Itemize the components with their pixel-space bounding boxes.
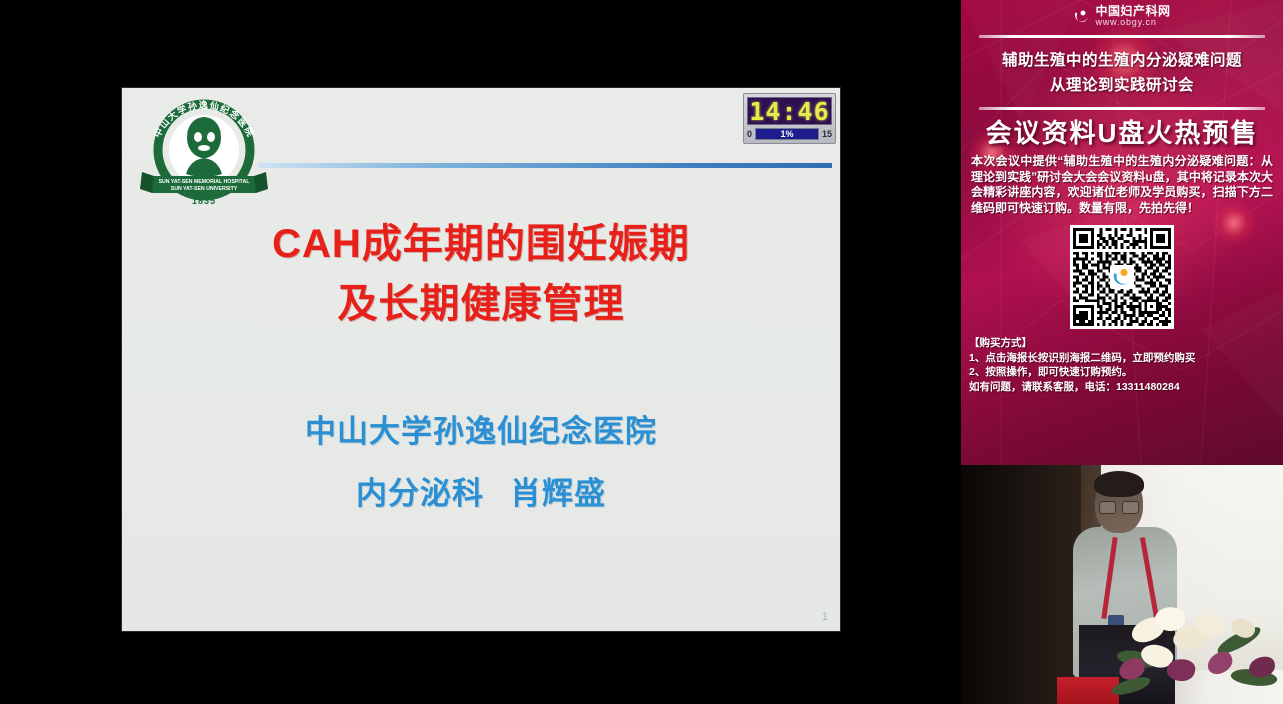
podium-name-plate — [1057, 677, 1119, 704]
slide-title: CAH成年期的围妊娠期 及长期健康管理 — [122, 214, 840, 334]
purchase-instructions: 【购买方式】 1、点击海报长按识别海报二维码，立即预约购买 2、按照操作，即可快… — [969, 336, 1275, 394]
timer-percent-label: 1% — [780, 129, 793, 139]
timer-digits: 14:46 — [749, 99, 829, 124]
slide-presenter-line: 内分泌科肖辉盛 — [122, 463, 840, 525]
brand-url: www.obgy.cn — [1095, 18, 1170, 27]
video-wall-pillar — [961, 465, 1081, 704]
presentation-slide[interactable]: 中山大学孙逸仙纪念医院 — [122, 88, 840, 631]
howto-contact: 如有问题，请联系客服，电话：13311480284 — [969, 380, 1275, 395]
brand-text: 中国妇产科网 www.obgy.cn — [1095, 5, 1170, 27]
slide-page-number: 1 — [822, 611, 828, 623]
svg-text:SUN YAT-SEN MEMORIAL HOSPITAL: SUN YAT-SEN MEMORIAL HOSPITAL — [159, 179, 251, 185]
slide-presenter-name: 肖辉盛 — [510, 476, 606, 511]
howto-step-2: 2、按照操作，即可快速订购预约。 — [969, 365, 1275, 380]
slide-header-rule — [258, 163, 832, 168]
conference-title-line-2: 从理论到实践研讨会 — [961, 73, 1283, 98]
brand-header[interactable]: 中国妇产科网 www.obgy.cn — [961, 0, 1283, 30]
conference-title-line-1: 辅助生殖中的生殖内分泌疑难问题 — [961, 48, 1283, 73]
promo-poster[interactable]: 中国妇产科网 www.obgy.cn 辅助生殖中的生殖内分泌疑难问题 从理论到实… — [961, 0, 1283, 465]
promo-headline: 会议资料U盘火热预售 — [961, 118, 1283, 148]
slide-title-line-1: CAH成年期的围妊娠期 — [122, 214, 840, 274]
qr-code-canvas — [1073, 228, 1171, 326]
slide-viewer[interactable]: 中山大学孙逸仙纪念医院 — [0, 0, 961, 704]
timer-progress-row: 0 1% 15 — [747, 127, 832, 141]
slide-department: 内分泌科 — [356, 476, 484, 511]
speaker-video-feed[interactable] — [961, 465, 1283, 704]
slide-content: 中山大学孙逸仙纪念医院 — [122, 88, 840, 631]
slide-title-line-2: 及长期健康管理 — [122, 274, 840, 334]
qr-code[interactable] — [1070, 225, 1174, 329]
svg-text:SUN YAT-SEN UNIVERSITY: SUN YAT-SEN UNIVERSITY — [171, 186, 238, 192]
speaker-glasses-icon — [1099, 501, 1139, 512]
timer-progress-bar[interactable]: 1% — [755, 128, 819, 140]
sun-yat-sen-hospital-logo-icon: 中山大学孙逸仙纪念医院 — [134, 94, 274, 206]
slide-affiliation: 中山大学孙逸仙纪念医院 — [122, 401, 840, 463]
slide-subtitle: 中山大学孙逸仙纪念医院 内分泌科肖辉盛 — [122, 401, 840, 525]
timer-lcd-display: 14:46 — [747, 97, 832, 125]
obgy-logo-icon — [1073, 8, 1090, 25]
sidebar-panel: 中国妇产科网 www.obgy.cn 辅助生殖中的生殖内分泌疑难问题 从理论到实… — [961, 0, 1283, 704]
poster-divider-middle — [979, 107, 1265, 110]
qr-center-logo-icon — [1110, 265, 1134, 289]
howto-step-1: 1、点击海报长按识别海报二维码，立即预约购买 — [969, 351, 1275, 366]
glasses-lens-right — [1122, 501, 1139, 514]
presentation-timer[interactable]: 14:46 0 1% 15 — [743, 93, 836, 144]
flower-arrangement — [1111, 597, 1283, 704]
svg-text:1835: 1835 — [192, 196, 216, 206]
webinar-player: 中山大学孙逸仙纪念医院 — [0, 0, 1283, 704]
glasses-lens-left — [1099, 501, 1116, 514]
conference-title: 辅助生殖中的生殖内分泌疑难问题 从理论到实践研讨会 — [961, 48, 1283, 98]
timer-max-label: 15 — [822, 129, 832, 139]
speaker-hair — [1094, 471, 1144, 497]
timer-min-label: 0 — [747, 129, 752, 139]
poster-divider-top — [979, 35, 1265, 38]
howto-title: 【购买方式】 — [969, 336, 1275, 351]
brand-name: 中国妇产科网 — [1095, 5, 1170, 17]
promo-description: 本次会议中提供“辅助生殖中的生殖内分泌疑难问题：从理论到实践”研讨会大会会议资料… — [971, 154, 1273, 216]
